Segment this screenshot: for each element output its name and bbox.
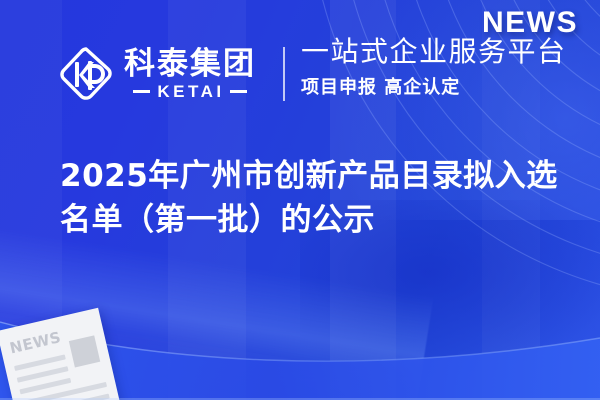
brand-name-cn: 科泰集团 (124, 48, 256, 81)
ketai-diamond-kd-mark-icon (58, 45, 114, 103)
brand-logo[interactable]: 科泰集团 KETAI (58, 38, 256, 110)
vertical-divider (283, 47, 285, 101)
brand-wordmark: 科泰集团 KETAI (124, 48, 256, 101)
slogan-main: 一站式企业服务平台 (301, 36, 567, 67)
slogan-block: 一站式企业服务平台 项目申报 高企认定 (301, 36, 567, 99)
headline-title: 2025年广州市创新产品目录拟入选名单（第一批）的公示 (60, 154, 580, 242)
brand-name-en-row: KETAI (124, 83, 256, 100)
news-banner: 科泰集团 KETAI 一站式企业服务平台 项目申报 高企认定 NEWS 2025… (0, 0, 600, 400)
brand-dash-right-icon (230, 90, 247, 93)
brand-dash-left-icon (133, 90, 150, 93)
slogan-sub: 项目申报 高企认定 (301, 73, 567, 99)
brand-name-en: KETAI (157, 83, 224, 100)
news-wordmark: NEWS (482, 6, 578, 40)
